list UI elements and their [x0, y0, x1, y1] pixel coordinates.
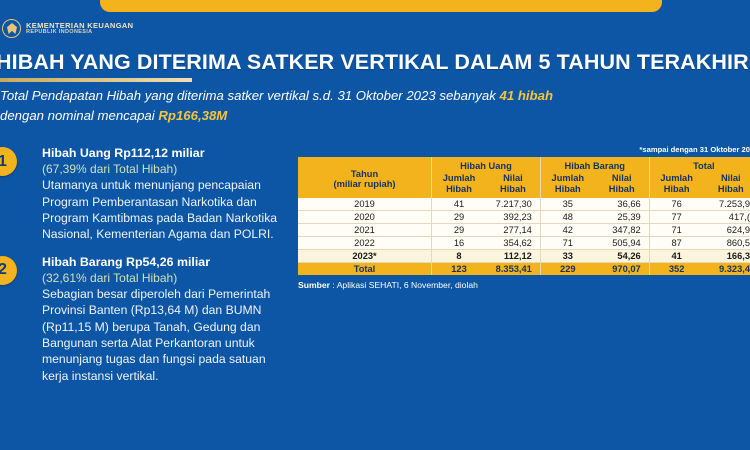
bullet-body-2: Sebagian besar diperoleh dari Pemerintah…	[42, 286, 290, 384]
subtitle-part2: sebanyak	[439, 88, 495, 103]
cell-year: 2023*	[298, 250, 432, 263]
th-barang-nilai: Nilai Hibah	[595, 172, 649, 198]
cell-uang-nilai: 277,14	[486, 224, 540, 237]
cell-uang-jml: 123	[432, 263, 486, 276]
hibah-table: Tahun (miliar rupiah) Hibah Uang Hibah B…	[298, 157, 750, 275]
table-row: 2020 29 392,23 48 25,39 77 417,(	[298, 211, 750, 224]
cell-total-jml: 76	[649, 198, 703, 211]
cell-uang-jml: 8	[432, 250, 486, 263]
table-total-row: Total 123 8.353,41 229 970,07 352 9.323,…	[298, 263, 750, 276]
cell-total-nilai: 860,5	[704, 237, 750, 250]
subtitle-highlight-amount: Rp166,38M	[158, 108, 227, 123]
cell-barang-nilai: 970,07	[595, 263, 649, 276]
cell-total-label: Total	[298, 263, 432, 276]
bullet-panel: 1 Hibah Uang Rp112,12 miliar (67,39% dar…	[0, 145, 290, 395]
ministry-logo-block: KEMENTERIAN KEUANGAN REPUBLIK INDONESIA	[2, 18, 133, 40]
cell-total-nilai: 166,3	[704, 250, 750, 263]
page-title: HIBAH YANG DITERIMA SATKER VERTIKAL DALA…	[0, 50, 750, 75]
cell-uang-nilai: 354,62	[486, 237, 540, 250]
th-uang-nilai: Nilai Hibah	[486, 172, 540, 198]
cell-barang-jml: 71	[540, 237, 594, 250]
garuda-logo-icon	[2, 18, 22, 40]
cell-uang-jml: 29	[432, 211, 486, 224]
table-row: 2019 41 7.217,30 35 36,66 76 7.253,9	[298, 198, 750, 211]
cell-uang-jml: 41	[432, 198, 486, 211]
cell-total-jml: 77	[649, 211, 703, 224]
cell-total-nilai: 9.323,4	[704, 263, 750, 276]
th-group-total: Total	[649, 157, 750, 172]
cell-total-jml: 87	[649, 237, 703, 250]
th-total-nilai: Nilai Hibah	[704, 172, 750, 198]
bullet-badge-1: 1	[0, 147, 17, 176]
cell-uang-nilai: 392,23	[486, 211, 540, 224]
th-group-hibah-uang: Hibah Uang	[432, 157, 541, 172]
cell-uang-jml: 29	[432, 224, 486, 237]
cell-total-jml: 71	[649, 224, 703, 237]
bullet-percent-2: (32,61% dari Total Hibah)	[42, 270, 290, 286]
title-underline	[0, 78, 192, 82]
table-row: 2023* 8 112,12 33 54,26 41 166,3	[298, 250, 750, 263]
cell-uang-nilai: 8.353,41	[486, 263, 540, 276]
table-row: 2021 29 277,14 42 347,82 71 624,9	[298, 224, 750, 237]
cell-year: 2019	[298, 198, 432, 211]
bullet-badge-2: 2	[0, 256, 17, 285]
bullet-percent-1: (67,39% dari Total Hibah)	[42, 161, 290, 177]
table-footnote: *sampai dengan 31 Oktober 20	[298, 145, 750, 154]
source-label: Sumber	[298, 280, 330, 290]
table-row: 2022 16 354,62 71 505,94 87 860,5	[298, 237, 750, 250]
cell-barang-nilai: 505,94	[595, 237, 649, 250]
subtitle: Total Pendapatan Hibah yang diterima sat…	[0, 86, 700, 127]
bullet-item-2: 2 Hibah Barang Rp54,26 miliar (32,61% da…	[0, 254, 290, 384]
ministry-name-line2: REPUBLIK INDONESIA	[26, 30, 133, 36]
cell-barang-nilai: 54,26	[595, 250, 649, 263]
cell-total-nilai: 417,(	[704, 211, 750, 224]
cell-year: 2021	[298, 224, 432, 237]
th-barang-jumlah: Jumlah Hibah	[540, 172, 594, 198]
cell-uang-nilai: 112,12	[486, 250, 540, 263]
source-value: : Aplikasi SEHATI, 6 November, diolah	[332, 280, 478, 290]
cell-uang-jml: 16	[432, 237, 486, 250]
th-tahun-unit: (miliar rupiah)	[334, 179, 396, 189]
cell-barang-jml: 33	[540, 250, 594, 263]
cell-year: 2020	[298, 211, 432, 224]
subtitle-part1: Total Pendapatan Hibah yang diterima sat…	[0, 88, 436, 103]
table-zone: *sampai dengan 31 Oktober 20 Tahun (mili…	[298, 145, 750, 290]
top-accent-bar	[100, 0, 662, 12]
th-group-hibah-barang: Hibah Barang	[540, 157, 649, 172]
subtitle-part3: dengan nominal mencapai	[0, 108, 155, 123]
source-line: Sumber : Aplikasi SEHATI, 6 November, di…	[298, 280, 750, 290]
subtitle-highlight-count: 41 hibah	[500, 88, 554, 103]
cell-barang-jml: 42	[540, 224, 594, 237]
th-total-jumlah: Jumlah Hibah	[649, 172, 703, 198]
cell-barang-jml: 48	[540, 211, 594, 224]
cell-barang-nilai: 347,82	[595, 224, 649, 237]
cell-year: 2022	[298, 237, 432, 250]
cell-uang-nilai: 7.217,30	[486, 198, 540, 211]
cell-total-jml: 352	[649, 263, 703, 276]
cell-total-nilai: 624,9	[704, 224, 750, 237]
th-uang-jumlah: Jumlah Hibah	[432, 172, 486, 198]
table-body: 2019 41 7.217,30 35 36,66 76 7.253,9 202…	[298, 198, 750, 275]
cell-barang-nilai: 25,39	[595, 211, 649, 224]
bullet-heading-2: Hibah Barang Rp54,26 miliar	[42, 254, 290, 270]
bullet-body-1: Utamanya untuk menunjang pencapaian Prog…	[42, 177, 290, 242]
cell-barang-jml: 229	[540, 263, 594, 276]
bullet-heading-1: Hibah Uang Rp112,12 miliar	[42, 145, 290, 161]
cell-barang-jml: 35	[540, 198, 594, 211]
cell-total-nilai: 7.253,9	[704, 198, 750, 211]
cell-total-jml: 41	[649, 250, 703, 263]
bullet-item-1: 1 Hibah Uang Rp112,12 miliar (67,39% dar…	[0, 145, 290, 243]
cell-barang-nilai: 36,66	[595, 198, 649, 211]
th-tahun: Tahun (miliar rupiah)	[298, 157, 432, 198]
